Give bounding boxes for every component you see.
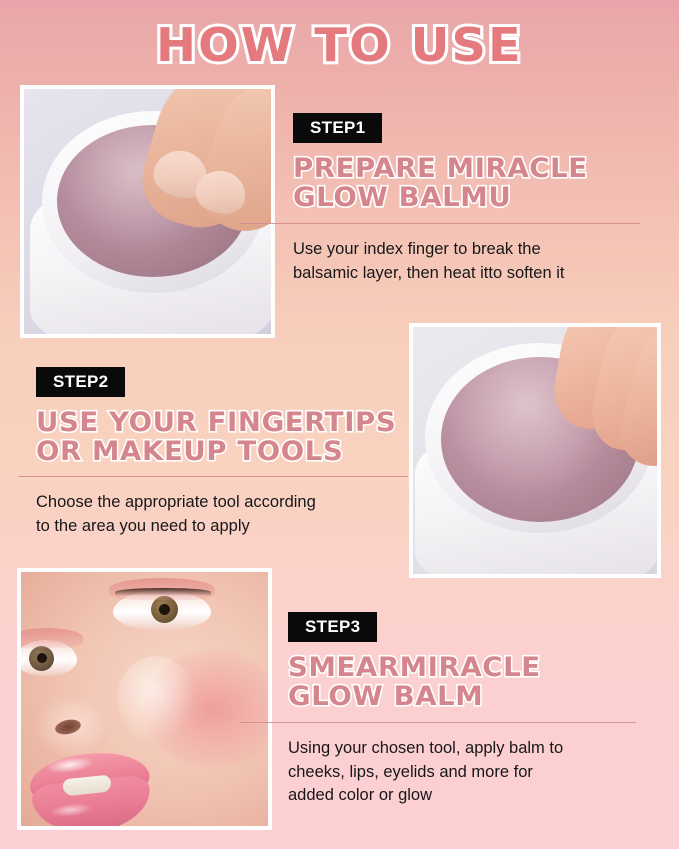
eyelid-left-shadow <box>17 628 83 648</box>
pupil-right <box>159 604 170 615</box>
lashes-right <box>115 588 211 596</box>
step1-badge: STEP1 <box>293 113 382 143</box>
step2-text-block: STEP2 USE YOUR FINGERTIPS OR MAKEUP TOOL… <box>36 367 416 538</box>
step3-heading: SMEARMIRACLE GLOW BALM <box>288 653 676 711</box>
step1-body: Use your index finger to break the balsa… <box>293 238 661 285</box>
step3-photo <box>17 568 272 830</box>
step3-badge: STEP3 <box>288 612 377 642</box>
step2-badge: STEP2 <box>36 367 125 397</box>
step2-photo-content <box>413 327 657 574</box>
step3-divider <box>240 722 636 723</box>
step2-heading: USE YOUR FINGERTIPS OR MAKEUP TOOLS <box>36 408 424 466</box>
step1-photo <box>20 85 275 338</box>
step2-divider <box>18 476 408 477</box>
step3-text-block: STEP3 SMEARMIRACLE GLOW BALM Using your … <box>288 612 668 808</box>
page-title-container: HOW TO USE <box>0 22 679 68</box>
step1-photo-content <box>24 89 271 334</box>
step1-divider <box>240 223 640 224</box>
step3-photo-content <box>21 572 268 826</box>
step1-text-block: STEP1 PREPARE MIRACLE GLOW BALMU Use you… <box>293 113 661 285</box>
cheek-highlight <box>117 656 195 742</box>
pupil-left <box>37 653 47 663</box>
step2-body: Choose the appropriate tool according to… <box>36 491 416 538</box>
how-to-use-infographic: HOW TO USE STEP1 PREPARE MIRACLE GLOW BA… <box>0 0 679 849</box>
page-title: HOW TO USE <box>156 22 523 68</box>
step3-body: Using your chosen tool, apply balm to ch… <box>288 737 668 807</box>
step1-heading: PREPARE MIRACLE GLOW BALMU <box>293 154 668 212</box>
step2-photo <box>409 323 661 578</box>
